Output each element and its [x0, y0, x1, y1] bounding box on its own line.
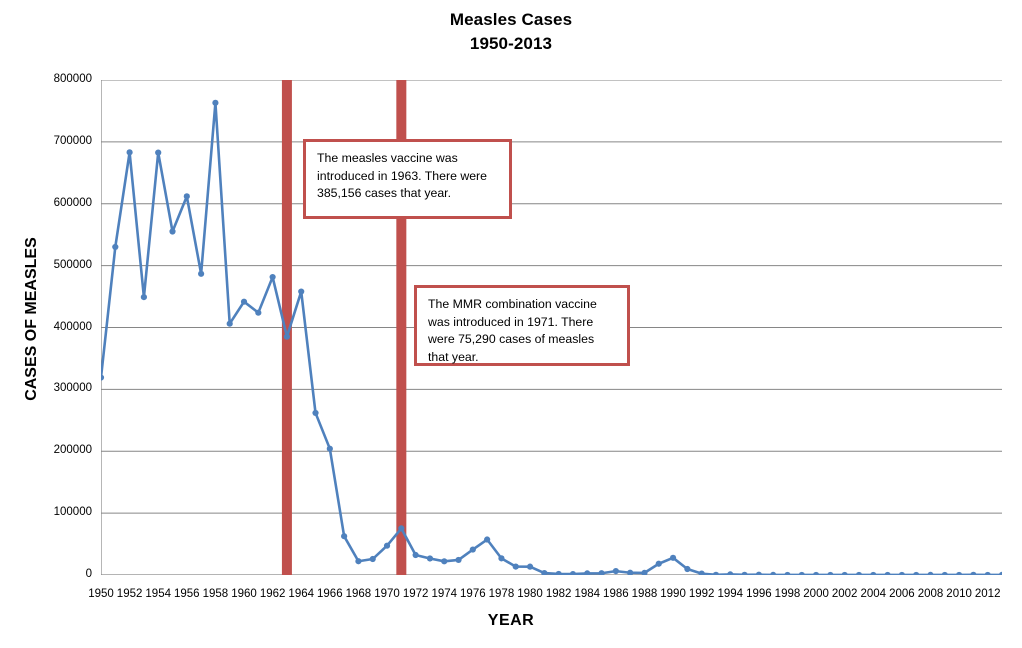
x-tick-label: 1960: [224, 588, 264, 600]
x-tick-label: 1954: [138, 588, 178, 600]
x-tick-label: 1968: [338, 588, 378, 600]
x-tick-label: 1950: [81, 588, 121, 600]
x-tick-label: 1972: [396, 588, 436, 600]
x-tick-label: 2000: [796, 588, 836, 600]
x-tick-label: 1976: [453, 588, 493, 600]
y-tick-label: 700000: [0, 136, 92, 147]
x-tick-label: 1978: [481, 588, 521, 600]
y-axis-title: CASES OF MEASLES: [23, 199, 41, 439]
x-tick-label: 2006: [882, 588, 922, 600]
y-tick-label: 200000: [0, 445, 92, 456]
x-tick-label: 2012: [968, 588, 1008, 600]
x-tick-label: 1984: [567, 588, 607, 600]
x-tick-label: 1986: [596, 588, 636, 600]
annotation-measles-vaccine-1963: The measles vaccine was introduced in 19…: [303, 139, 512, 219]
x-tick-label: 2004: [853, 588, 893, 600]
x-tick-label: 2002: [825, 588, 865, 600]
x-tick-label: 1994: [710, 588, 750, 600]
x-tick-label: 1982: [539, 588, 579, 600]
x-tick-label: 1966: [310, 588, 350, 600]
x-tick-label: 1998: [767, 588, 807, 600]
x-tick-label: 1958: [195, 588, 235, 600]
chart-title-line-2: 1950-2013: [0, 32, 1022, 56]
x-tick-label: 2008: [910, 588, 950, 600]
chart-title: Measles Cases 1950-2013: [0, 8, 1022, 56]
x-tick-label: 1952: [110, 588, 150, 600]
y-tick-label: 800000: [0, 74, 92, 85]
y-tick-label: 0: [0, 569, 92, 580]
y-tick-label: 100000: [0, 507, 92, 518]
y-tick-label: 500000: [0, 260, 92, 271]
x-tick-label: 1996: [739, 588, 779, 600]
chart-title-line-1: Measles Cases: [0, 8, 1022, 32]
annotation-mmr-vaccine-1971: The MMR combination vaccine was introduc…: [414, 285, 630, 366]
x-tick-label: 1990: [653, 588, 693, 600]
x-tick-label: 1980: [510, 588, 550, 600]
x-tick-label: 1970: [367, 588, 407, 600]
y-tick-label: 600000: [0, 198, 92, 209]
x-tick-label: 1956: [167, 588, 207, 600]
x-tick-label: 1992: [682, 588, 722, 600]
x-tick-label: 2010: [939, 588, 979, 600]
y-tick-label: 300000: [0, 383, 92, 394]
x-axis-title: YEAR: [0, 612, 1022, 630]
x-tick-label: 1974: [424, 588, 464, 600]
x-tick-label: 1988: [624, 588, 664, 600]
x-tick-label: 1964: [281, 588, 321, 600]
measles-cases-chart: Measles Cases 1950-2013 CASES OF MEASLES…: [0, 0, 1022, 648]
y-tick-label: 400000: [0, 322, 92, 333]
x-tick-label: 1962: [253, 588, 293, 600]
